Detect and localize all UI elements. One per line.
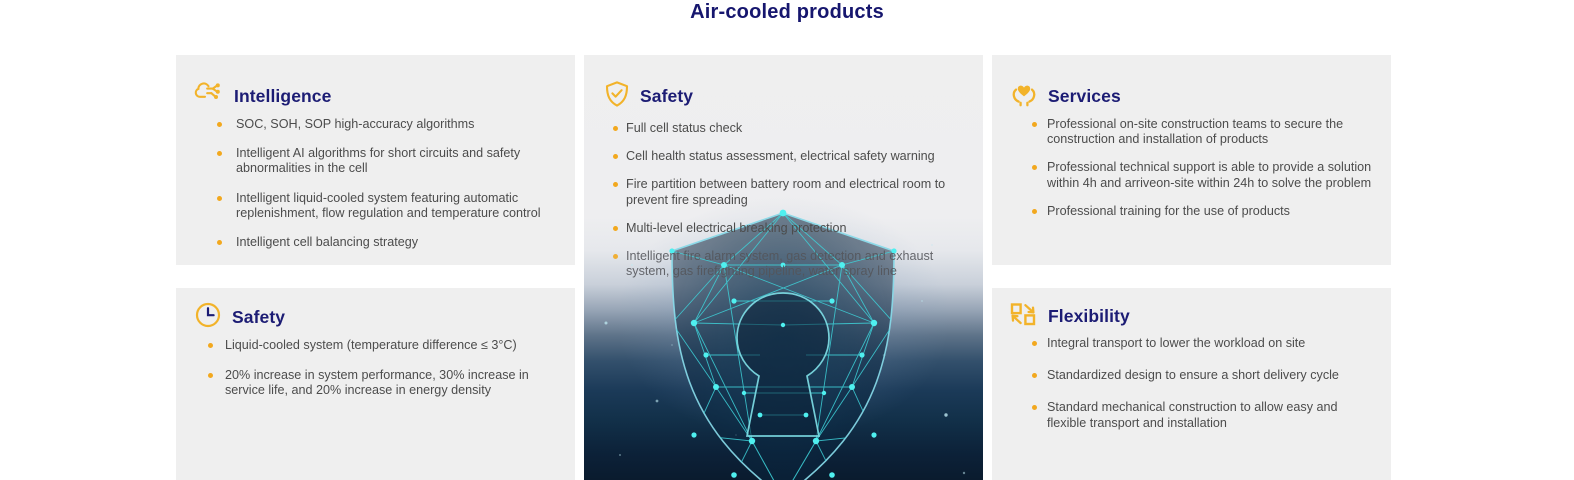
list-item: Intelligent liquid-cooled system featuri… [194,191,554,221]
card-safety-left-title: Safety [232,307,285,328]
list-item: Full cell status check [598,121,978,136]
card-intelligence: Intelligence SOC, SOH, SOP high-accuracy… [176,55,575,265]
clock-icon [194,301,222,334]
card-services-bullets: Professional on-site construction teams … [1014,117,1380,232]
list-item: Intelligent AI algorithms for short circ… [194,146,554,176]
bullet-dot-icon [217,240,222,245]
card-intelligence-header: Intelligence [194,80,331,113]
resize-flexible-icon [1008,300,1038,333]
card-safety-middle-bullets: Full cell status check Cell health statu… [598,121,978,292]
list-item: 20% increase in system performance, 30% … [188,368,560,398]
bullet-dot-icon [217,196,222,201]
card-intelligence-title: Intelligence [234,86,331,107]
list-item: Cell health status assessment, electrica… [598,149,978,164]
card-services-title: Services [1048,86,1121,107]
card-safety-left: Safety Liquid-cooled system (temperature… [176,288,575,480]
card-safety-middle-header: Safety [604,80,693,113]
list-item: Professional on-site construction teams … [1014,117,1380,147]
list-item: SOC, SOH, SOP high-accuracy algorithms [194,117,554,132]
card-safety-middle-title: Safety [640,86,693,107]
bullet-dot-icon [1032,341,1037,346]
page-title: Air-cooled products [0,1,1574,24]
heart-in-hands-icon [1010,80,1038,113]
bullet-dot-icon [1032,122,1037,127]
list-item: Liquid-cooled system (temperature differ… [188,338,560,353]
bullet-dot-icon [217,122,222,127]
card-services-header: Services [1010,80,1121,113]
list-item: Intelligent cell balancing strategy [194,235,554,250]
card-safety-left-bullets: Liquid-cooled system (temperature differ… [188,338,560,414]
list-item: Intelligent fire alarm system, gas detec… [598,249,978,279]
bullet-dot-icon [1032,373,1037,378]
bullet-dot-icon [613,182,618,187]
bullet-dot-icon [1032,405,1037,410]
list-item: Standard mechanical construction to allo… [1014,400,1380,430]
shield-check-icon [604,80,630,113]
card-flexibility-header: Flexibility [1008,300,1130,333]
bullet-dot-icon [208,373,213,378]
list-item: Professional training for the use of pro… [1014,204,1380,219]
bullet-dot-icon [613,126,618,131]
cloud-ai-icon [194,80,224,113]
card-flexibility-bullets: Integral transport to lower the workload… [1014,336,1380,448]
list-item: Professional technical support is able t… [1014,160,1380,190]
card-flexibility-title: Flexibility [1048,306,1130,327]
card-safety-left-header: Safety [194,301,285,334]
card-safety-middle: Safety Full cell status check Cell healt… [584,55,983,480]
list-item: Standardized design to ensure a short de… [1014,368,1380,383]
card-intelligence-bullets: SOC, SOH, SOP high-accuracy algorithms I… [194,117,554,264]
card-flexibility: Flexibility Integral transport to lower … [992,288,1391,480]
bullet-dot-icon [208,343,213,348]
slide-canvas: Air-cooled products Intelligence [0,0,1574,480]
bullet-dot-icon [613,254,618,259]
list-item: Multi-level electrical breaking protecti… [598,221,978,236]
list-item: Integral transport to lower the workload… [1014,336,1380,351]
bullet-dot-icon [613,154,618,159]
bullet-dot-icon [613,226,618,231]
bullet-dot-icon [1032,209,1037,214]
card-services: Services Professional on-site constructi… [992,55,1391,265]
bullet-dot-icon [1032,165,1037,170]
list-item: Fire partition between battery room and … [598,177,978,207]
bullet-dot-icon [217,151,222,156]
